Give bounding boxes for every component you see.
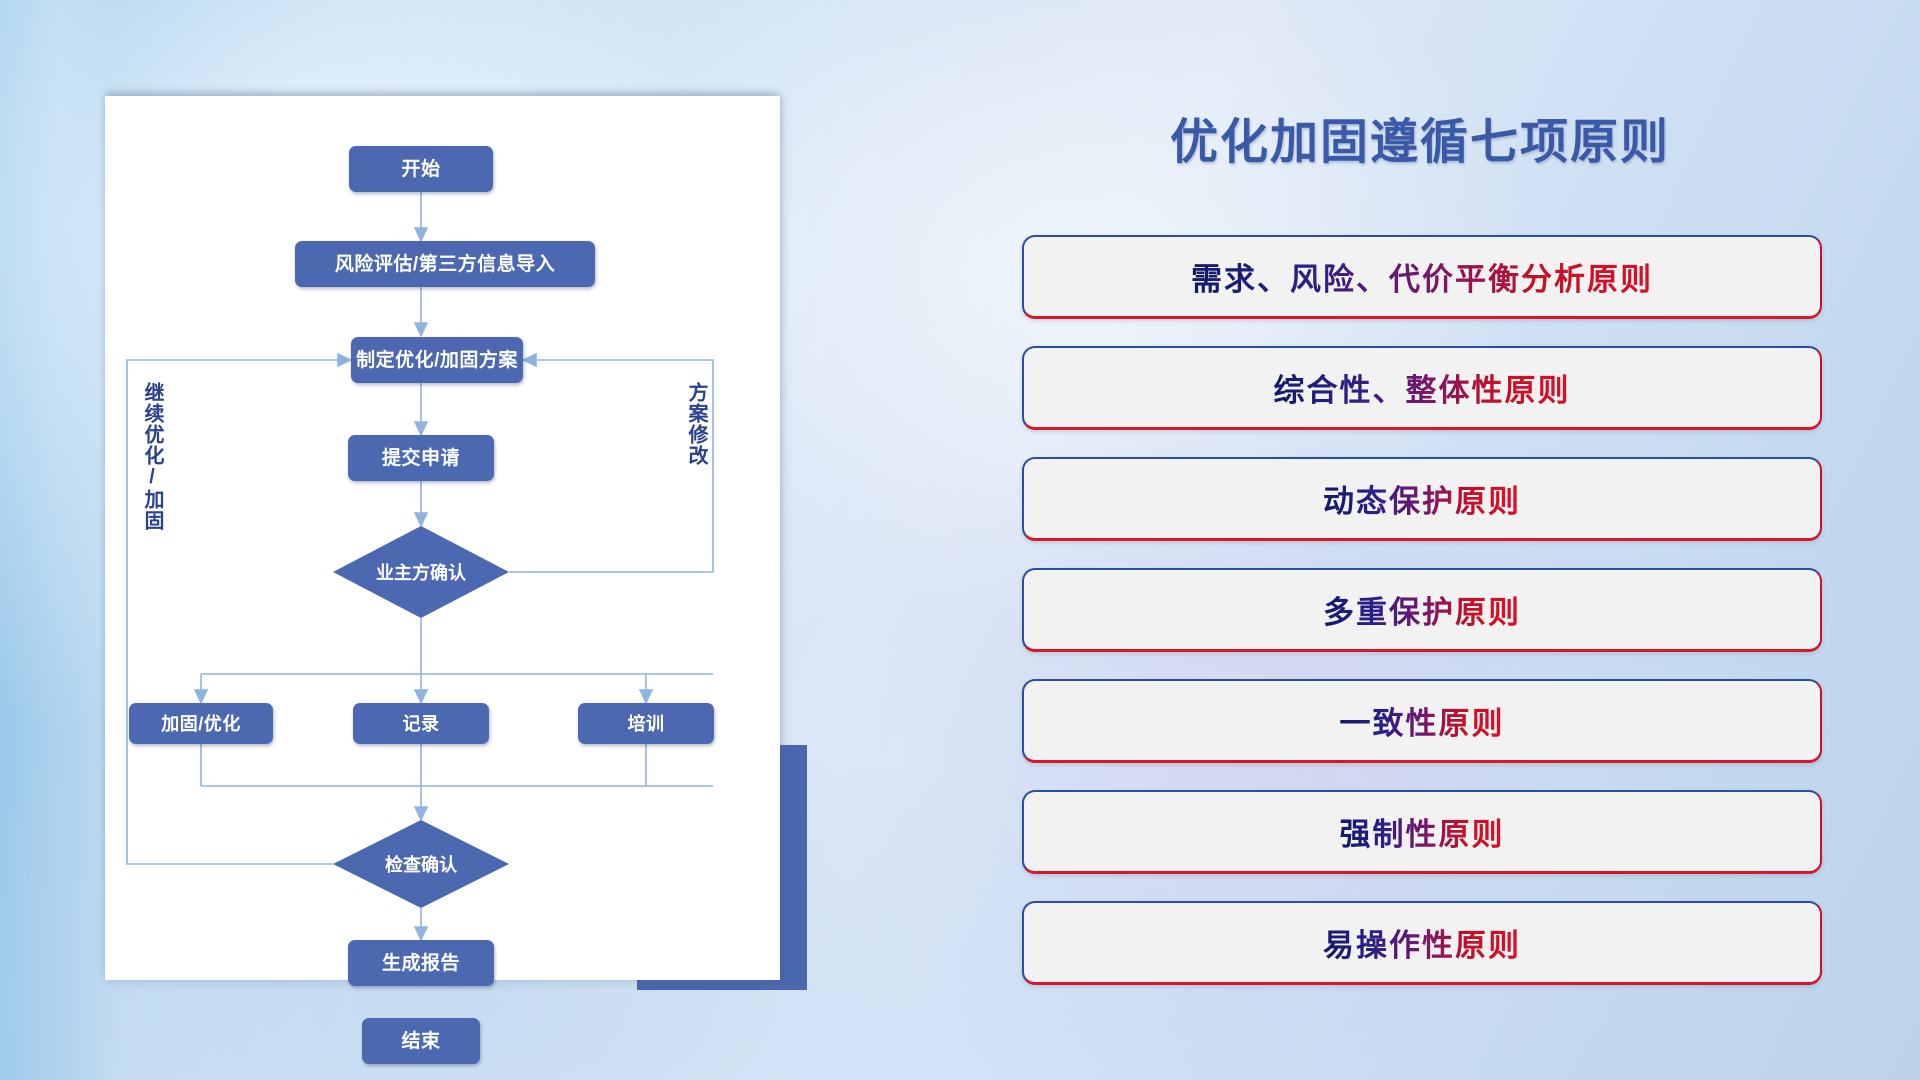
flowchart-card: 开始 风险评估/第三方信息导入 制定优化/加固方案 提交申请 业主方确认 加固/… — [105, 96, 780, 980]
flow-node-submit-label: 提交申请 — [382, 449, 460, 468]
flow-node-owner-confirm-label: 业主方确认 — [376, 559, 466, 585]
principle-item-1-label: 需求、风险、代价平衡分析原则 — [1191, 254, 1653, 299]
flow-node-training-label: 培训 — [628, 715, 665, 733]
principle-item-2[interactable]: 综合性、整体性原则 — [1022, 346, 1822, 430]
principle-item-7-label: 易操作性原则 — [1323, 920, 1521, 965]
flow-edge-label-plan-revision: 方案修改 — [685, 382, 706, 466]
flow-node-plan-label: 制定优化/加固方案 — [356, 351, 518, 370]
flow-node-plan[interactable]: 制定优化/加固方案 — [351, 337, 523, 383]
flow-node-report-label: 生成报告 — [382, 954, 460, 973]
flow-node-record-label: 记录 — [403, 715, 440, 733]
principles-panel: 优化加固遵循七项原则 需求、风险、代价平衡分析原则 综合性、整体性原则 动态保护… — [1010, 80, 1830, 1000]
principle-item-7[interactable]: 易操作性原则 — [1022, 901, 1822, 985]
flow-node-risk-assessment-label: 风险评估/第三方信息导入 — [335, 255, 555, 274]
flow-node-risk-assessment[interactable]: 风险评估/第三方信息导入 — [295, 241, 595, 287]
flow-node-start-label: 开始 — [401, 160, 440, 179]
principle-item-1[interactable]: 需求、风险、代价平衡分析原则 — [1022, 235, 1822, 319]
page-title: 优化加固遵循七项原则 — [1010, 102, 1830, 172]
flow-node-end-label: 结束 — [401, 1032, 440, 1051]
principle-item-6[interactable]: 强制性原则 — [1022, 790, 1822, 874]
flow-node-training[interactable]: 培训 — [578, 703, 714, 744]
principle-item-3[interactable]: 动态保护原则 — [1022, 457, 1822, 541]
flow-node-submit[interactable]: 提交申请 — [348, 435, 494, 481]
principles-list: 需求、风险、代价平衡分析原则 综合性、整体性原则 动态保护原则 多重保护原则 一… — [1022, 235, 1822, 1012]
principle-item-5-label: 一致性原则 — [1340, 698, 1505, 743]
flow-node-end[interactable]: 结束 — [362, 1018, 480, 1064]
flow-node-record[interactable]: 记录 — [353, 703, 489, 744]
principle-item-5[interactable]: 一致性原则 — [1022, 679, 1822, 763]
flow-node-start[interactable]: 开始 — [349, 146, 493, 192]
principle-item-4[interactable]: 多重保护原则 — [1022, 568, 1822, 652]
flow-node-reinforce-label: 加固/优化 — [161, 715, 241, 733]
flow-node-reinforce[interactable]: 加固/优化 — [129, 703, 273, 744]
principle-item-2-label: 综合性、整体性原则 — [1274, 365, 1571, 410]
flow-node-check-confirm-label: 检查确认 — [385, 851, 457, 877]
principle-item-3-label: 动态保护原则 — [1323, 476, 1521, 521]
flow-edge-label-continue-optimize: 继续优化/加固 — [141, 382, 162, 531]
flow-node-report[interactable]: 生成报告 — [348, 940, 494, 986]
principle-item-6-label: 强制性原则 — [1340, 809, 1505, 854]
principle-item-4-label: 多重保护原则 — [1323, 587, 1521, 632]
